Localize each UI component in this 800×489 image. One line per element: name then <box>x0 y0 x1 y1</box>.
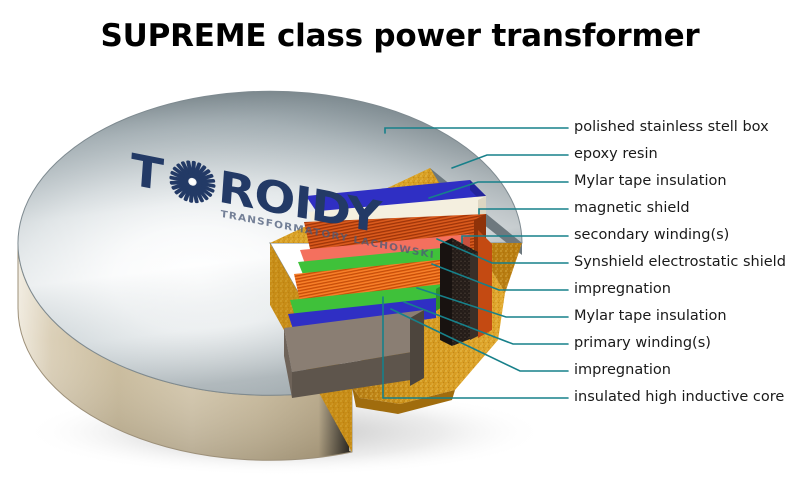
callout-label-mylar-tape-insulation-outer: Mylar tape insulation <box>574 174 727 189</box>
callout-label-mylar-tape-insulation-inner: Mylar tape insulation <box>574 309 727 324</box>
callout-label-secondary-windings: secondary winding(s) <box>574 228 729 243</box>
callout-label-epoxy-resin: epoxy resin <box>574 147 658 162</box>
callout-label-insulated-high-inductive-core: insulated high inductive core <box>574 390 784 405</box>
callout-label-primary-windings: primary winding(s) <box>574 336 711 351</box>
callout-labels: polished stainless stell boxepoxy resinM… <box>0 0 800 489</box>
callout-label-impregnation-lower: impregnation <box>574 363 671 378</box>
callout-label-magnetic-shield: magnetic shield <box>574 201 690 216</box>
transformer-diagram-page: SUPREME class power transformer <box>0 0 800 489</box>
callout-label-impregnation-upper: impregnation <box>574 282 671 297</box>
callout-label-synshield-electrostatic-shield: Synshield electrostatic shield <box>574 255 786 270</box>
callout-label-polished-stainless-stell-box: polished stainless stell box <box>574 120 769 135</box>
